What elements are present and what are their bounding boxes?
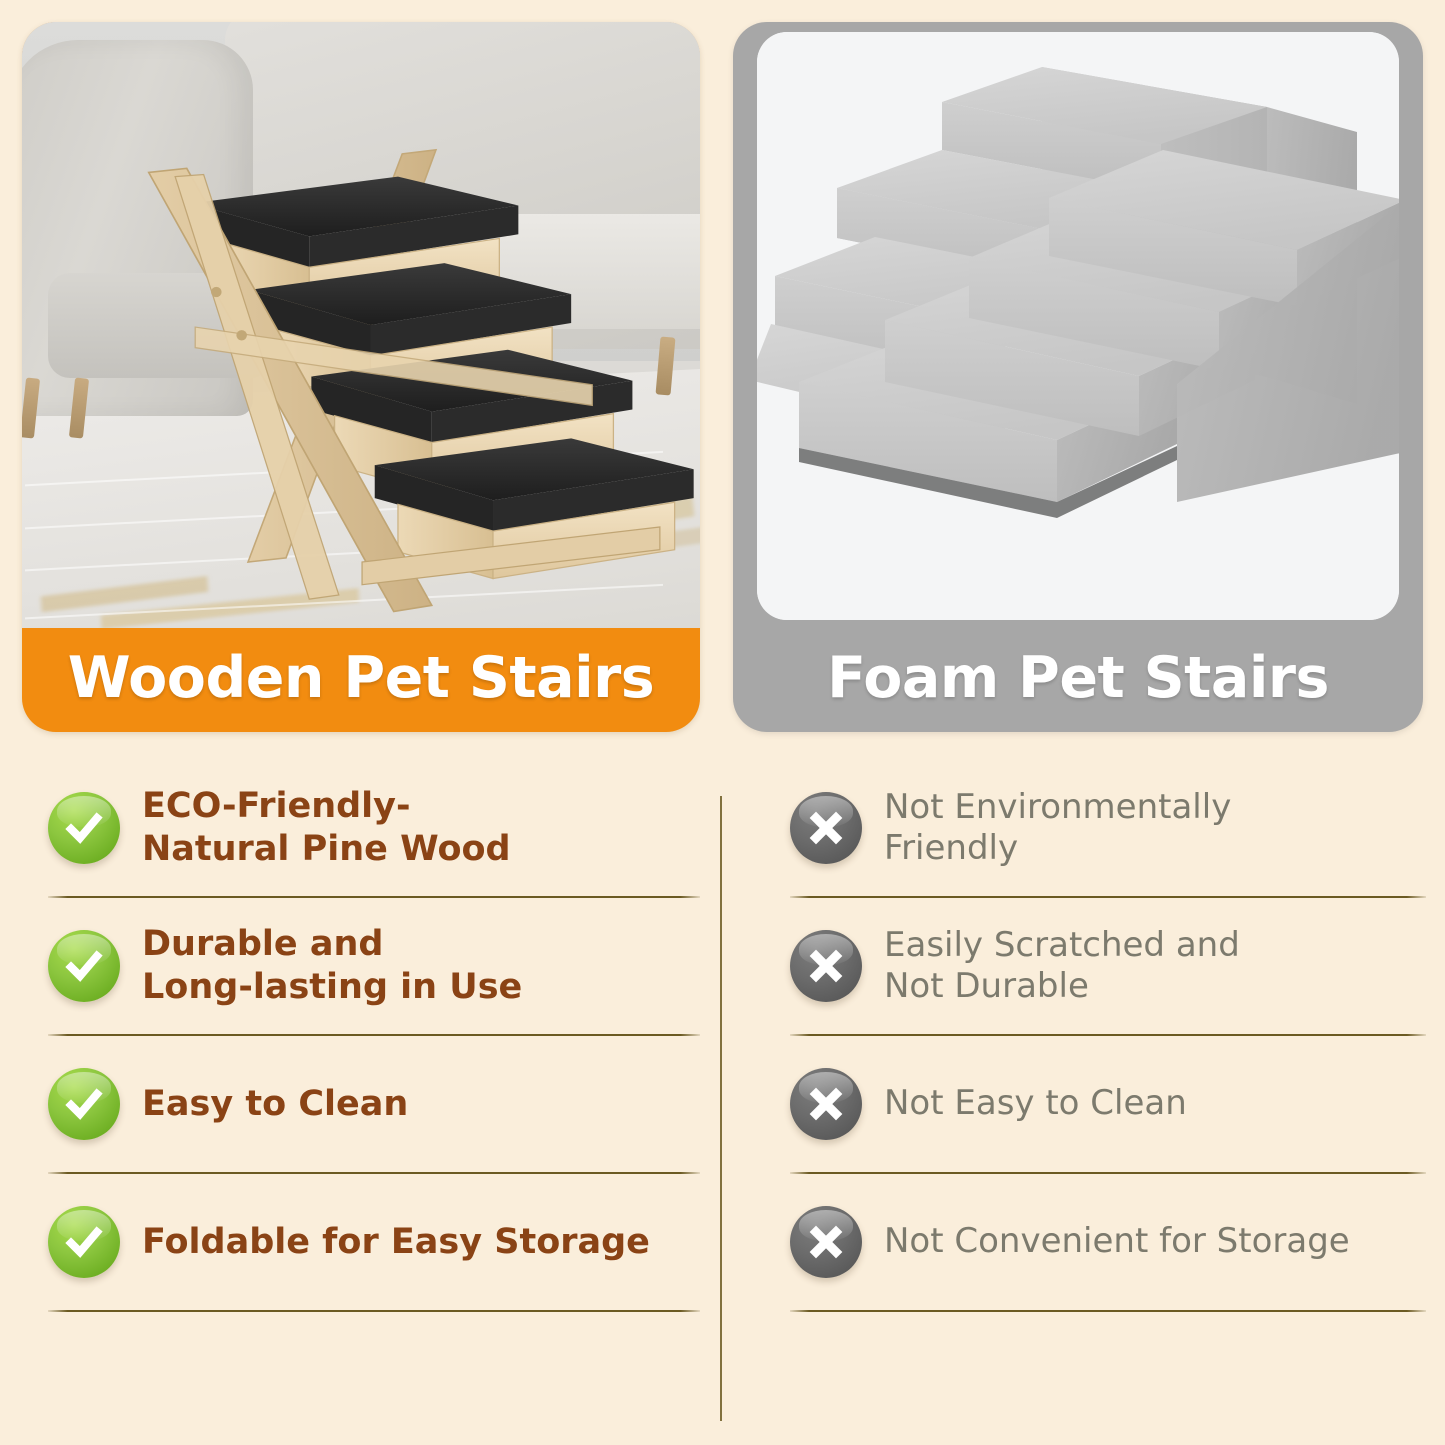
pros-item-2-label: Easy to Clean xyxy=(142,1083,408,1126)
cons-item-2: Not Easy to Clean xyxy=(790,1036,1426,1172)
pros-item-0-label: ECO-Friendly- Natural Pine Wood xyxy=(142,785,511,870)
check-icon xyxy=(48,1068,120,1140)
foam-stairs-photo xyxy=(757,32,1399,620)
cons-item-3-label: Not Convenient for Storage xyxy=(884,1221,1350,1262)
cons-column: Not Environmentally Friendly Easily Scra… xyxy=(790,760,1426,1312)
pros-column: ECO-Friendly- Natural Pine Wood Durable … xyxy=(48,760,700,1312)
pros-item-3-label: Foldable for Easy Storage xyxy=(142,1221,650,1264)
wooden-pet-stairs-illustration xyxy=(22,22,700,628)
cons-item-1-label: Easily Scratched and Not Durable xyxy=(884,925,1240,1008)
product-cards-row: Wooden Pet Stairs xyxy=(0,0,1445,740)
foam-stairs-banner-label: Foam Pet Stairs xyxy=(827,645,1329,711)
pros-item-1: Durable and Long-lasting in Use xyxy=(48,898,700,1034)
cross-icon xyxy=(790,1068,862,1140)
product-card-foam[interactable]: Foam Pet Stairs xyxy=(733,22,1423,732)
check-icon xyxy=(48,792,120,864)
cons-item-0-label: Not Environmentally Friendly xyxy=(884,787,1231,870)
cons-item-1: Easily Scratched and Not Durable xyxy=(790,898,1426,1034)
foam-stairs-banner: Foam Pet Stairs xyxy=(733,624,1423,732)
cross-icon xyxy=(790,1206,862,1278)
pros-divider-3 xyxy=(48,1310,700,1312)
pros-item-2: Easy to Clean xyxy=(48,1036,700,1172)
foam-pet-stairs-illustration xyxy=(757,32,1399,620)
check-icon xyxy=(48,1206,120,1278)
cons-item-0: Not Environmentally Friendly xyxy=(790,760,1426,896)
cons-divider-3 xyxy=(790,1310,1426,1312)
check-icon xyxy=(48,930,120,1002)
product-card-wooden[interactable]: Wooden Pet Stairs xyxy=(22,22,700,732)
pros-item-3: Foldable for Easy Storage xyxy=(48,1174,700,1310)
pros-item-1-label: Durable and Long-lasting in Use xyxy=(142,923,522,1008)
cons-item-3: Not Convenient for Storage xyxy=(790,1174,1426,1310)
cross-icon xyxy=(790,930,862,1002)
comparison-infographic: Wooden Pet Stairs xyxy=(0,0,1445,1445)
cross-icon xyxy=(790,792,862,864)
wooden-stairs-banner-label: Wooden Pet Stairs xyxy=(68,645,654,711)
comparison-section: ECO-Friendly- Natural Pine Wood Durable … xyxy=(0,760,1445,1445)
wooden-stairs-photo xyxy=(22,22,700,628)
column-divider xyxy=(720,796,722,1421)
pros-item-0: ECO-Friendly- Natural Pine Wood xyxy=(48,760,700,896)
wooden-stairs-banner: Wooden Pet Stairs xyxy=(22,624,700,732)
cons-item-2-label: Not Easy to Clean xyxy=(884,1083,1187,1124)
